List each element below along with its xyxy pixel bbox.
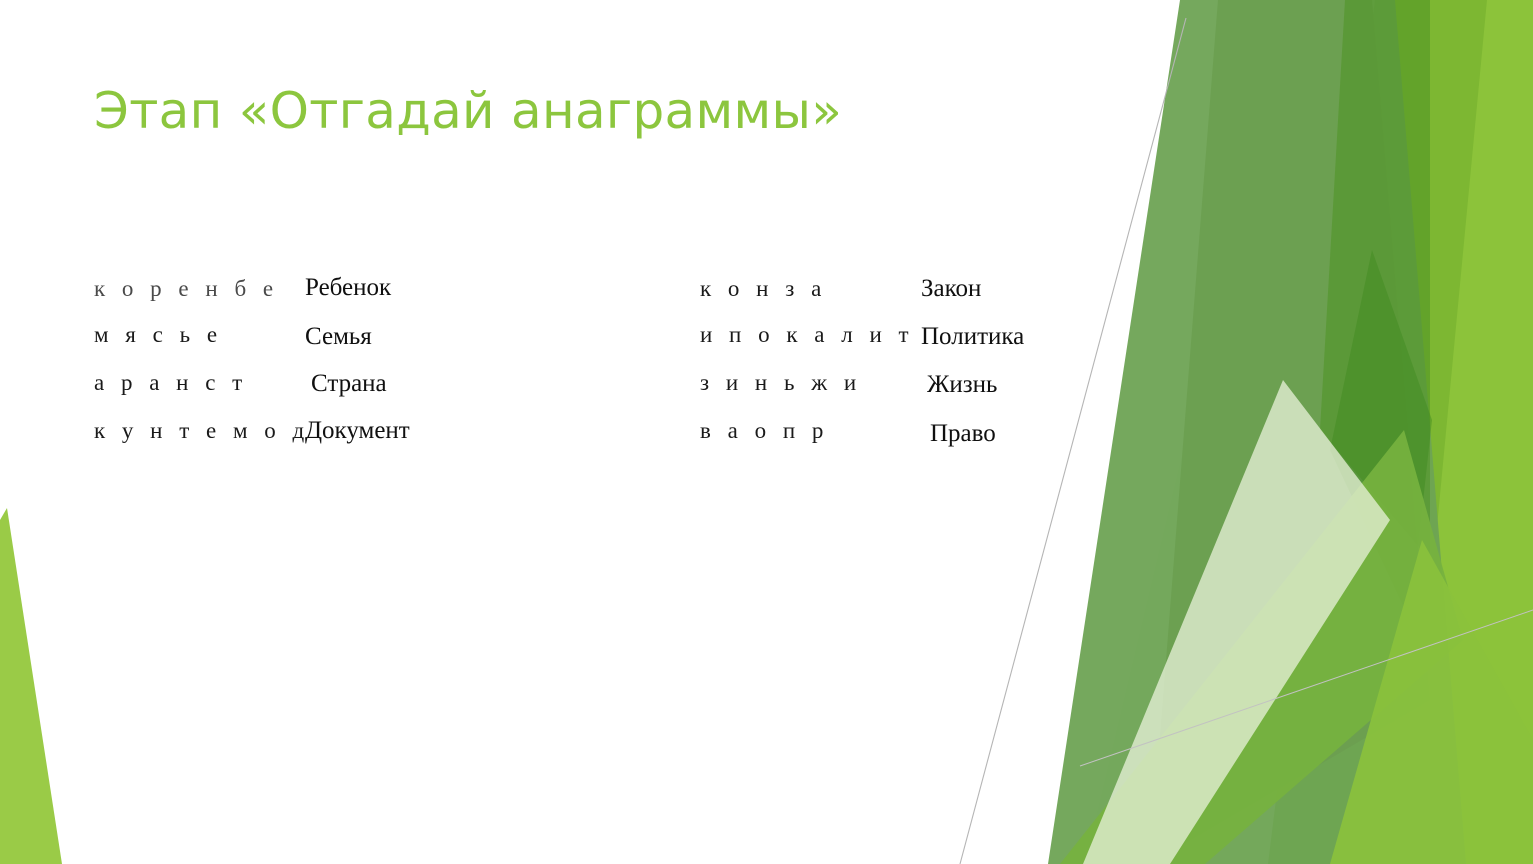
bright-green-slab-right: [1268, 0, 1533, 864]
answer-word: Семья: [305, 323, 372, 351]
scrambled-word: з и н ь ж и: [700, 370, 862, 396]
answer-word: Право: [930, 420, 996, 448]
anagram-row: к у н т е м о д Документ: [94, 414, 654, 460]
hairline-diagonal-lower: [1080, 610, 1533, 766]
scrambled-word: к о н з а: [700, 276, 827, 302]
scrambled-word: м я с ь е: [94, 322, 223, 348]
anagram-column-right: к о н з а Закон и п о к а л и т Политика…: [700, 276, 1260, 460]
answer-word: Политика: [921, 323, 1024, 351]
scrambled-word: к у н т е м о д: [94, 418, 310, 444]
anagram-row: к о н з а Закон: [700, 276, 1260, 322]
scrambled-word: к о р е н б е: [94, 276, 279, 302]
answer-word: Страна: [311, 370, 387, 398]
page-title: Этап «Отгадай анаграммы»: [94, 82, 842, 140]
anagram-row: и п о к а л и т Политика: [700, 322, 1260, 368]
anagram-row: а р а н с т Страна: [94, 368, 654, 414]
anagram-row: м я с ь е Семья: [94, 322, 654, 368]
bright-green-slab-far-right: [1405, 0, 1533, 864]
answer-word: Жизнь: [927, 371, 997, 399]
anagram-row: в а о п р Право: [700, 414, 1260, 460]
accent-wedge-bottom-left: [0, 508, 62, 864]
dark-green-overlap-2: [1330, 250, 1432, 620]
scrambled-word: а р а н с т: [94, 370, 248, 396]
anagram-column-left: к о р е н б е Ребенок м я с ь е Семья а …: [94, 276, 654, 460]
answer-word: Документ: [305, 417, 410, 445]
presentation-slide: Этап «Отгадай анаграммы» к о р е н б е Р…: [0, 0, 1533, 864]
green-band-lower-left-2: [1330, 540, 1533, 864]
answer-word: Ребенок: [305, 274, 391, 302]
scrambled-word: в а о п р: [700, 418, 829, 444]
dark-green-overlap: [1320, 0, 1430, 560]
scrambled-word: и п о к а л и т: [700, 322, 914, 348]
answer-word: Закон: [921, 275, 981, 303]
anagram-row: к о р е н б е Ребенок: [94, 276, 654, 322]
anagram-row: з и н ь ж и Жизнь: [700, 368, 1260, 414]
green-band-lower-left: [1060, 430, 1463, 864]
